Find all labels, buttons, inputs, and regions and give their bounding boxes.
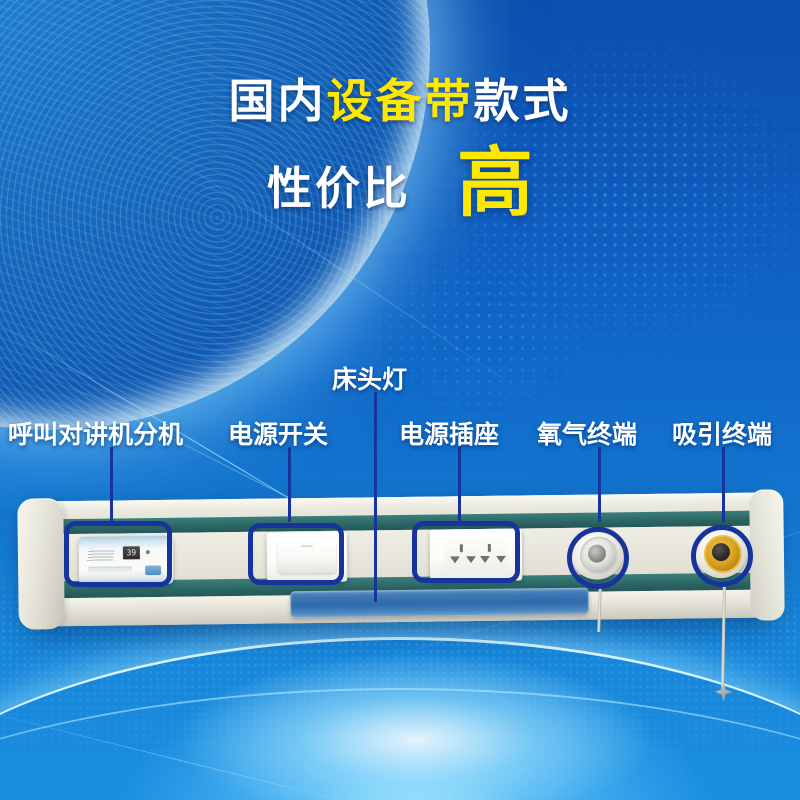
highlight-box-power-socket [412,521,520,583]
headline-emphasis: 高 [457,146,533,222]
highlight-box-intercom [64,521,172,587]
leader-line-bed-lamp [374,392,377,602]
callout-label-power-switch: 电源开关 [228,415,328,451]
headline-subtext: 性价比 [267,166,411,211]
bed-lamp-diffuser [290,588,588,618]
panel-end-cap-right [749,489,785,620]
headline-line-2: 性价比 高 [0,150,800,226]
leader-line-intercom [110,447,113,522]
headline-line1-highlight: 设备带 [327,75,474,127]
poster-canvas: 国内设备带款式 性价比 高 呼叫对讲机分机 电源开关 床头灯 电源插座 氧气终端… [0,0,800,800]
leader-line-suction-terminal [722,447,725,522]
headline-line1-part2: 款式 [474,75,572,127]
headline-line-1: 国内设备带款式 [0,78,800,124]
callout-label-oxygen-terminal: 氧气终端 [537,415,637,451]
callout-label-bed-lamp: 床头灯 [332,360,407,396]
leader-line-power-switch [288,447,291,522]
panel-end-cap-left [17,498,65,630]
leader-line-oxygen-terminal [598,447,601,522]
leader-line-power-socket [458,447,461,522]
highlight-box-power-switch [248,523,344,585]
highlight-circle-suction [691,525,753,587]
highlight-circle-oxygen [567,527,629,589]
callout-label-suction-terminal: 吸引终端 [672,415,772,451]
callout-label-intercom: 呼叫对讲机分机 [8,415,183,451]
headline-block: 国内设备带款式 性价比 高 [0,78,800,226]
callout-label-power-socket: 电源插座 [399,415,499,451]
headline-line1-part1: 国内 [229,75,327,127]
bottom-glow [0,620,800,800]
